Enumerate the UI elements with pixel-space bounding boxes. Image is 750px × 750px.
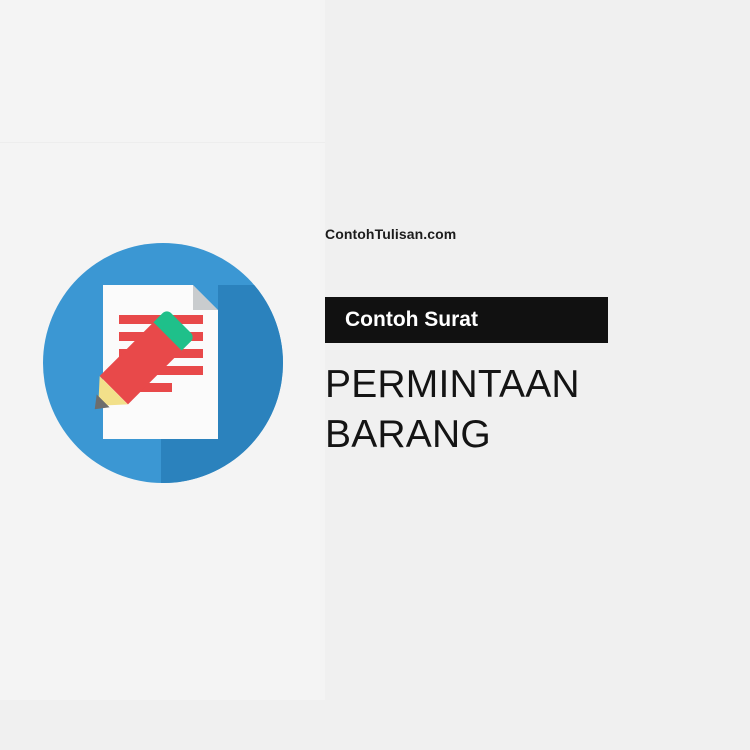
site-name-watermark: ContohTulisan.com [325, 226, 456, 242]
category-banner: Contoh Surat [325, 297, 608, 343]
category-banner-label: Contoh Surat [345, 297, 478, 343]
icon-circle-background [43, 243, 283, 483]
page-title: PERMINTAAN BARANG [325, 360, 725, 460]
page-canvas: ContohTulisan.com Contoh Surat PERMINTAA… [0, 0, 750, 750]
document-with-pencil-icon [43, 243, 283, 483]
panel-divider [0, 142, 325, 143]
page-title-line-2: BARANG [325, 410, 725, 460]
page-title-line-1: PERMINTAAN [325, 360, 725, 410]
